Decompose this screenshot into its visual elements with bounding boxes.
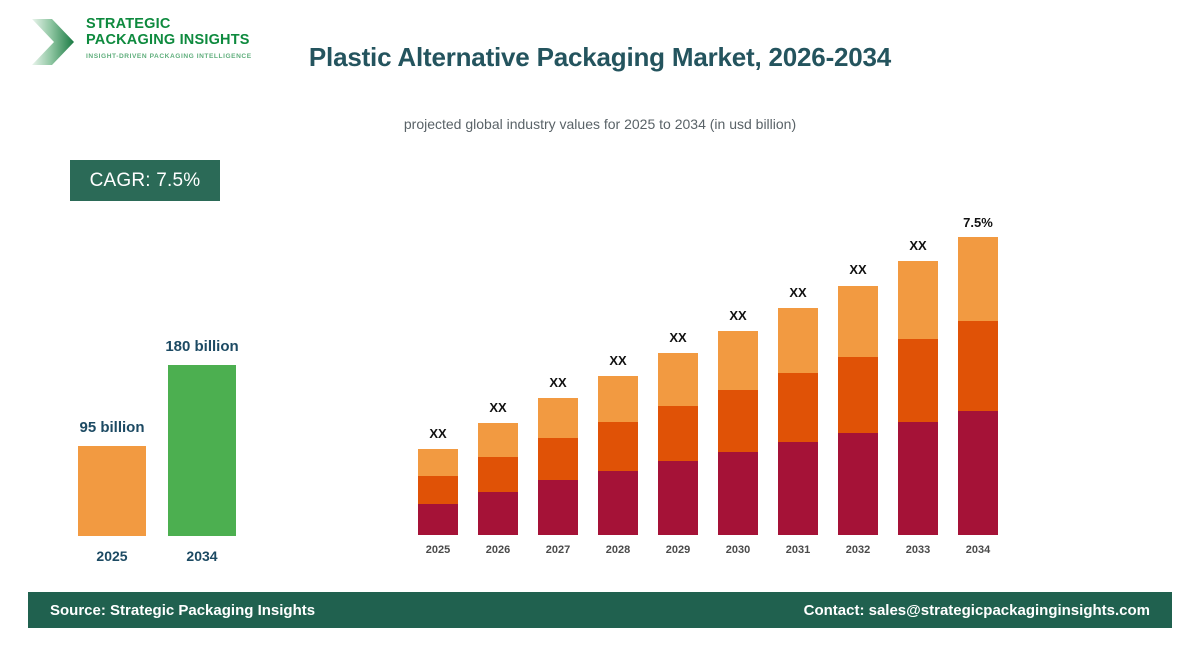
stacked-bar-segment xyxy=(418,504,458,535)
stacked-bar-segment xyxy=(418,449,458,476)
stacked-bar-group: XX xyxy=(478,423,518,535)
stacked-bar-year-label: 2029 xyxy=(666,544,690,556)
infographic-canvas: STRATEGIC PACKAGING INSIGHTS INSIGHT-DRI… xyxy=(0,0,1200,650)
comparison-bar-value-label: 180 billion xyxy=(165,338,238,355)
comparison-bar-year-label: 2034 xyxy=(186,548,217,564)
stacked-bar-year-label: 2031 xyxy=(786,544,810,556)
stacked-bar-value-label: XX xyxy=(429,426,446,441)
stacked-bar-segment xyxy=(538,438,578,480)
stacked-bar-segment xyxy=(838,357,878,433)
stacked-bar-group: XX xyxy=(898,261,938,535)
brand-logo: STRATEGIC PACKAGING INSIGHTS INSIGHT-DRI… xyxy=(30,14,290,80)
stacked-bar-segment xyxy=(718,390,758,452)
brand-tagline: INSIGHT-DRIVEN PACKAGING INTELLIGENCE xyxy=(86,53,252,60)
stacked-bar-group: XX xyxy=(418,449,458,535)
stacked-bar-segment xyxy=(478,492,518,535)
stacked-bar-segment xyxy=(598,471,638,535)
stacked-bar-group: XX xyxy=(718,331,758,535)
stacked-bar-year-label: 2030 xyxy=(726,544,750,556)
stacked-bar-segment xyxy=(598,422,638,471)
page-subtitle: projected global industry values for 202… xyxy=(280,116,920,132)
market-size-comparison-chart: 95 billion2025180 billion2034 xyxy=(60,320,280,570)
stacked-bar-group: 7.5% xyxy=(958,238,998,535)
stacked-bar-year-label: 2027 xyxy=(546,544,570,556)
stacked-bar-year-label: 2034 xyxy=(966,544,990,556)
stacked-bar-segment xyxy=(898,261,938,339)
stacked-bar-year-label: 2033 xyxy=(906,544,930,556)
stacked-bar-value-label: XX xyxy=(849,262,866,277)
comparison-bar xyxy=(168,365,236,536)
stacked-bar-value-label: XX xyxy=(789,285,806,300)
stacked-bar-value-label: 7.5% xyxy=(963,215,993,230)
stacked-bar-value-label: XX xyxy=(729,308,746,323)
stacked-bar-group: XX xyxy=(598,376,638,535)
stacked-bar-segment xyxy=(718,452,758,535)
stacked-bar-segment xyxy=(778,442,818,535)
stacked-bar-segment xyxy=(478,423,518,457)
page-title: Plastic Alternative Packaging Market, 20… xyxy=(300,40,900,74)
stacked-bar-segment xyxy=(538,398,578,438)
stacked-bar-group: XX xyxy=(538,398,578,535)
stacked-bar-segment xyxy=(718,331,758,390)
brand-wordmark: STRATEGIC PACKAGING INSIGHTS INSIGHT-DRI… xyxy=(86,14,252,60)
stacked-bar-year-label: 2032 xyxy=(846,544,870,556)
stacked-bar-value-label: XX xyxy=(489,400,506,415)
stacked-bar-segment xyxy=(418,476,458,504)
projected-market-stacked-chart: XXXXXXXXXXXXXXXXXX7.5% 20252026202720282… xyxy=(405,180,1025,560)
comparison-bar-year-label: 2025 xyxy=(96,548,127,564)
stacked-bar-segment xyxy=(538,480,578,535)
stacked-bar-segment xyxy=(958,321,998,411)
stacked-bar-segment xyxy=(898,339,938,422)
brand-name-line2: PACKAGING INSIGHTS xyxy=(86,33,252,49)
footer-contact: Contact: sales@strategicpackaginginsight… xyxy=(804,602,1150,619)
stacked-bar-segment xyxy=(598,376,638,422)
stacked-bar-group: XX xyxy=(658,353,698,535)
stacked-bar-value-label: XX xyxy=(549,375,566,390)
stacked-bar-value-label: XX xyxy=(609,353,626,368)
stacked-bar-segment xyxy=(838,433,878,535)
stacked-bar-segment xyxy=(898,422,938,535)
stacked-bar-group: XX xyxy=(778,308,818,535)
stacked-bar-value-label: XX xyxy=(669,330,686,345)
stacked-bar-segment xyxy=(778,308,818,373)
brand-name-line1: STRATEGIC xyxy=(86,14,252,33)
comparison-bar-value-label: 95 billion xyxy=(79,419,144,436)
stacked-bar-segment xyxy=(658,406,698,461)
chevron-logo-icon xyxy=(30,16,78,68)
stacked-bar-year-label: 2028 xyxy=(606,544,630,556)
cagr-badge: CAGR: 7.5% xyxy=(70,160,220,201)
stacked-bar-segment xyxy=(838,286,878,357)
stacked-bar-segment xyxy=(778,373,818,442)
footer-source: Source: Strategic Packaging Insights xyxy=(50,602,315,619)
stacked-bar-segment xyxy=(658,461,698,535)
stacked-bar-group: XX xyxy=(838,285,878,535)
stacked-bar-value-label: XX xyxy=(909,238,926,253)
stacked-bar-segment xyxy=(958,411,998,535)
comparison-bar-group: 95 billion xyxy=(78,446,146,536)
stacked-bar-year-label: 2025 xyxy=(426,544,450,556)
comparison-bar-group: 180 billion xyxy=(168,365,236,536)
stacked-bar-segment xyxy=(478,457,518,492)
stacked-bar-segment xyxy=(658,353,698,406)
footer-bar: Source: Strategic Packaging Insights Con… xyxy=(28,592,1172,628)
stacked-bar-segment xyxy=(958,237,998,321)
stacked-bar-year-label: 2026 xyxy=(486,544,510,556)
comparison-bar xyxy=(78,446,146,536)
